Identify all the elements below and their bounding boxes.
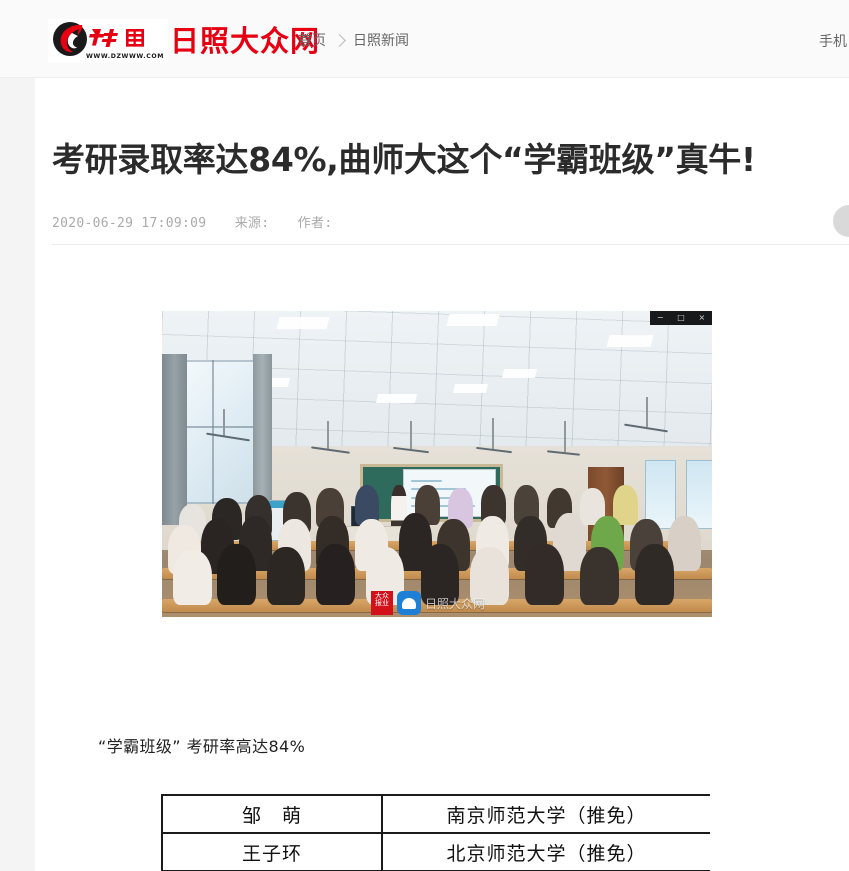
site-header: WWW.DZWWW.COM 日照大众网 首页 日照新闻 手机 [0,0,849,78]
student-school: 北京师范大学（推免） [382,833,710,871]
breadcrumb: 首页 日照新闻 [298,30,409,50]
student-name: 王子环 [162,833,382,871]
app-icon [397,591,421,615]
close-icon[interactable]: × [698,314,705,322]
window-controls[interactable]: − □ × [650,311,712,325]
photo-caption: “学霸班级” 考研率高达84% [98,733,305,757]
article-page: WWW.DZWWW.COM 日照大众网 首页 日照新闻 手机 考研录取率达84%… [0,0,849,871]
page-title: 考研录取率达84%,曲师大这个“学霸班级”真牛! [52,139,849,180]
student-name: 邹 萌 [162,795,382,833]
svg-text:WWW.DZWWW.COM: WWW.DZWWW.COM [86,53,164,60]
meta-divider [52,244,849,245]
watermark-text: 日照大众网 [425,595,485,612]
chevron-right-icon [333,34,346,47]
breadcrumb-section[interactable]: 日照新闻 [353,30,409,50]
maximize-icon[interactable]: □ [677,314,685,322]
breadcrumb-home[interactable]: 首页 [298,30,326,50]
student-school: 南京师范大学（推免） [382,795,710,833]
header-inner: WWW.DZWWW.COM 日照大众网 首页 日照新闻 手机 [0,0,849,77]
minimize-icon[interactable]: − [657,314,664,322]
flame-logo-icon: WWW.DZWWW.COM [48,19,168,63]
author-label: 作者: [298,216,333,231]
mobile-link[interactable]: 手机 [819,31,849,51]
admission-table-image: 邹 萌 南京师范大学（推免） 王子环 北京师范大学（推免） 付 娜 山东大学（推… [161,794,710,871]
table-row: 邹 萌 南京师范大学（推免） [162,795,710,833]
admission-table-body: 邹 萌 南京师范大学（推免） 王子环 北京师范大学（推免） 付 娜 山东大学（推… [162,795,710,871]
photo-watermark: 大众 报业 日照大众网 [371,591,485,615]
watermark-badge: 大众 报业 [371,591,393,615]
publish-datetime: 2020-06-29 17:09:09 [52,216,206,231]
share-bubble-icon[interactable] [833,205,849,237]
source-label: 来源: [235,216,270,231]
admission-table: 邹 萌 南京师范大学（推免） 王子环 北京师范大学（推免） 付 娜 山东大学（推… [161,794,710,871]
curtain-left [162,354,187,525]
classroom-photo-image: − □ × 大众 报业 日照大众网 [162,311,712,617]
classroom-photo: − □ × 大众 报业 日照大众网 [162,311,712,617]
article-card: 考研录取率达84%,曲师大这个“学霸班级”真牛! 2020-06-29 17:0… [35,78,849,871]
site-logo[interactable]: WWW.DZWWW.COM 日照大众网 [48,19,320,63]
article-meta: 2020-06-29 17:09:09 来源: 作者: [52,212,332,231]
left-gutter [0,78,35,871]
table-row: 王子环 北京师范大学（推免） [162,833,710,871]
